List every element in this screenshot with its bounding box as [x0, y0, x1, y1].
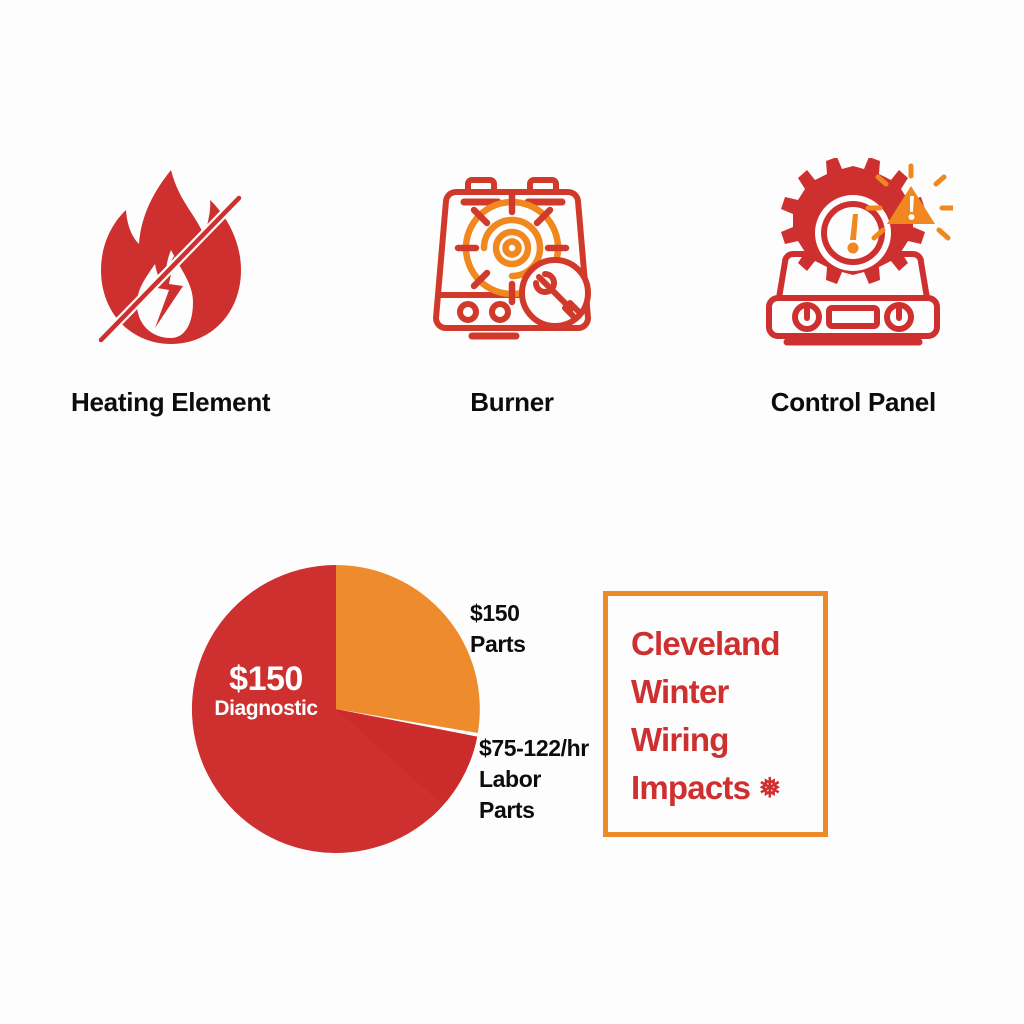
pie-callout-parts: $150 Parts: [470, 598, 526, 660]
callout-line-2: Winter: [631, 673, 729, 710]
pie-callout-labor-subname: Parts: [479, 795, 589, 826]
pie-callout-parts-name: Parts: [470, 629, 526, 660]
cooktop-burner-no-heat-icon: [402, 150, 622, 365]
component-label-control-panel: Control Panel: [771, 387, 936, 418]
gear-warning-control-panel-icon: [743, 150, 963, 365]
callout-line-1: Cleveland: [631, 625, 780, 662]
callout-line-3: Wiring: [631, 721, 729, 758]
cost-breakdown-pie-chart[interactable]: [190, 563, 482, 855]
pie-callout-labor: $75-122/hr Labor Parts: [479, 733, 589, 826]
snowflake-icon: ❅: [759, 772, 781, 802]
pie-callout-parts-amount: $150: [470, 598, 526, 629]
pie-callout-labor-amount: $75-122/hr: [479, 733, 589, 764]
pie-callout-labor-name: Labor: [479, 764, 589, 795]
infographic-canvas: Heating Element: [0, 0, 1024, 1024]
component-card-control-panel[interactable]: Control Panel: [703, 150, 1003, 418]
callout-line-4: Impacts: [631, 769, 750, 806]
component-card-burner[interactable]: Burner: [362, 150, 662, 418]
component-label-heating-element: Heating Element: [71, 387, 270, 418]
winter-impact-callout-text: Cleveland Winter Wiring Impacts ❅: [631, 620, 813, 811]
component-card-heating-element[interactable]: Heating Element: [21, 150, 321, 418]
pie-slice-parts[interactable]: [336, 565, 480, 733]
winter-impact-callout-box[interactable]: Cleveland Winter Wiring Impacts ❅: [603, 591, 828, 837]
component-icon-row: Heating Element: [0, 150, 1024, 450]
component-label-burner: Burner: [470, 387, 553, 418]
broken-flame-icon: [61, 150, 281, 365]
